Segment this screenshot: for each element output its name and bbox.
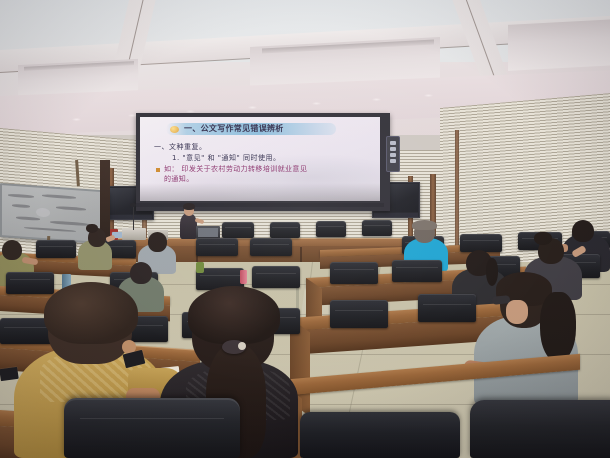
person-a9-face — [506, 300, 528, 324]
wall-control-keypad[interactable] — [386, 136, 400, 172]
wall-trim-right-3 — [455, 130, 459, 256]
keypad-button-1[interactable] — [390, 141, 396, 145]
keypad-button-3[interactable] — [390, 153, 396, 157]
presenter-hair — [183, 203, 195, 210]
slide-line-2: 1. "意见" 和 "通知" 同时使用。 — [172, 154, 367, 162]
person-a6-head — [130, 262, 152, 284]
chair-row4-1[interactable] — [36, 240, 76, 258]
person-a10-head — [572, 220, 594, 242]
phone-on-desk-left[interactable] — [0, 367, 19, 381]
slide-bullet-icon — [156, 168, 160, 172]
person-a8-ponytail — [486, 258, 498, 286]
water-bottle — [240, 270, 247, 284]
projection-screen[interactable]: 一、公文写作常见错误辨析 一、文种重复。 1. "意见" 和 "通知" 同时使用… — [136, 113, 390, 211]
lecture-hall-photo: 一、公文写作常见错误辨析 一、文种重复。 1. "意见" 和 "通知" 同时使用… — [0, 0, 610, 458]
projection-screen-rail — [136, 203, 384, 207]
person-a9-ponytail — [540, 292, 576, 362]
stage-chair-1[interactable] — [222, 222, 254, 238]
chair-row2-6[interactable] — [418, 294, 476, 322]
slide-line-4: 的通知。 — [164, 175, 264, 183]
podium-laptop-screen — [198, 228, 218, 237]
podium-equipment-box — [122, 228, 146, 240]
chair-row3-6[interactable] — [392, 260, 442, 282]
slide-title-bullet-icon — [170, 126, 179, 133]
stage-chair-2[interactable] — [270, 222, 300, 238]
keypad-button-4[interactable] — [390, 159, 396, 163]
projection-screen-surface: 一、公文写作常见错误辨析 一、文种重复。 1. "意见" 和 "通知" 同时使用… — [140, 117, 380, 201]
person-a3-head — [2, 240, 22, 260]
chair-row4-3[interactable] — [196, 238, 238, 256]
side-display-left-bezel — [110, 215, 152, 219]
green-bottle — [196, 262, 204, 273]
keypad-button-2[interactable] — [390, 147, 396, 151]
chair-row2-5[interactable] — [330, 300, 388, 328]
downlight-7 — [424, 94, 433, 97]
chair-row3-4[interactable] — [252, 266, 300, 288]
downlight-1 — [72, 118, 81, 121]
slide-title: 一、公文写作常见错误辨析 — [184, 124, 334, 134]
foreground-chair-seam — [80, 418, 224, 419]
downlight-5 — [312, 102, 321, 105]
foreground-chair-far-right[interactable] — [470, 400, 610, 458]
foreground-chair-right[interactable] — [300, 412, 460, 458]
person-a1-hair — [44, 282, 138, 344]
person-a2-hair — [188, 286, 280, 344]
chair-row3-1[interactable] — [6, 272, 54, 294]
stage-chair-4[interactable] — [362, 220, 392, 236]
person-a4-hair — [86, 224, 98, 233]
person-a5-head — [148, 232, 167, 252]
stage-chair-3[interactable] — [316, 221, 346, 237]
person-a11-hair-bun — [534, 232, 552, 245]
person-a2-hair-bead — [238, 342, 246, 350]
downlight-6 — [372, 98, 381, 101]
chair-row4-4[interactable] — [250, 238, 292, 256]
podium-microphone — [130, 203, 136, 207]
person-a7-hair — [412, 220, 437, 230]
ceiling-coffer-right — [508, 19, 610, 71]
screen-vignette — [140, 183, 380, 201]
side-display-right-bezel — [374, 213, 418, 217]
chair-row3-5[interactable] — [330, 262, 378, 284]
downlight-4 — [248, 106, 257, 109]
slide-line-3: 如： 印发关于农村劳动力转移培训就业意见 — [164, 165, 376, 173]
foreground-chair-center[interactable] — [64, 398, 240, 458]
podium-microphone-stand — [133, 206, 134, 230]
slide-line-1: 一、文种重复。 — [154, 143, 364, 151]
presenter-body — [180, 213, 197, 239]
